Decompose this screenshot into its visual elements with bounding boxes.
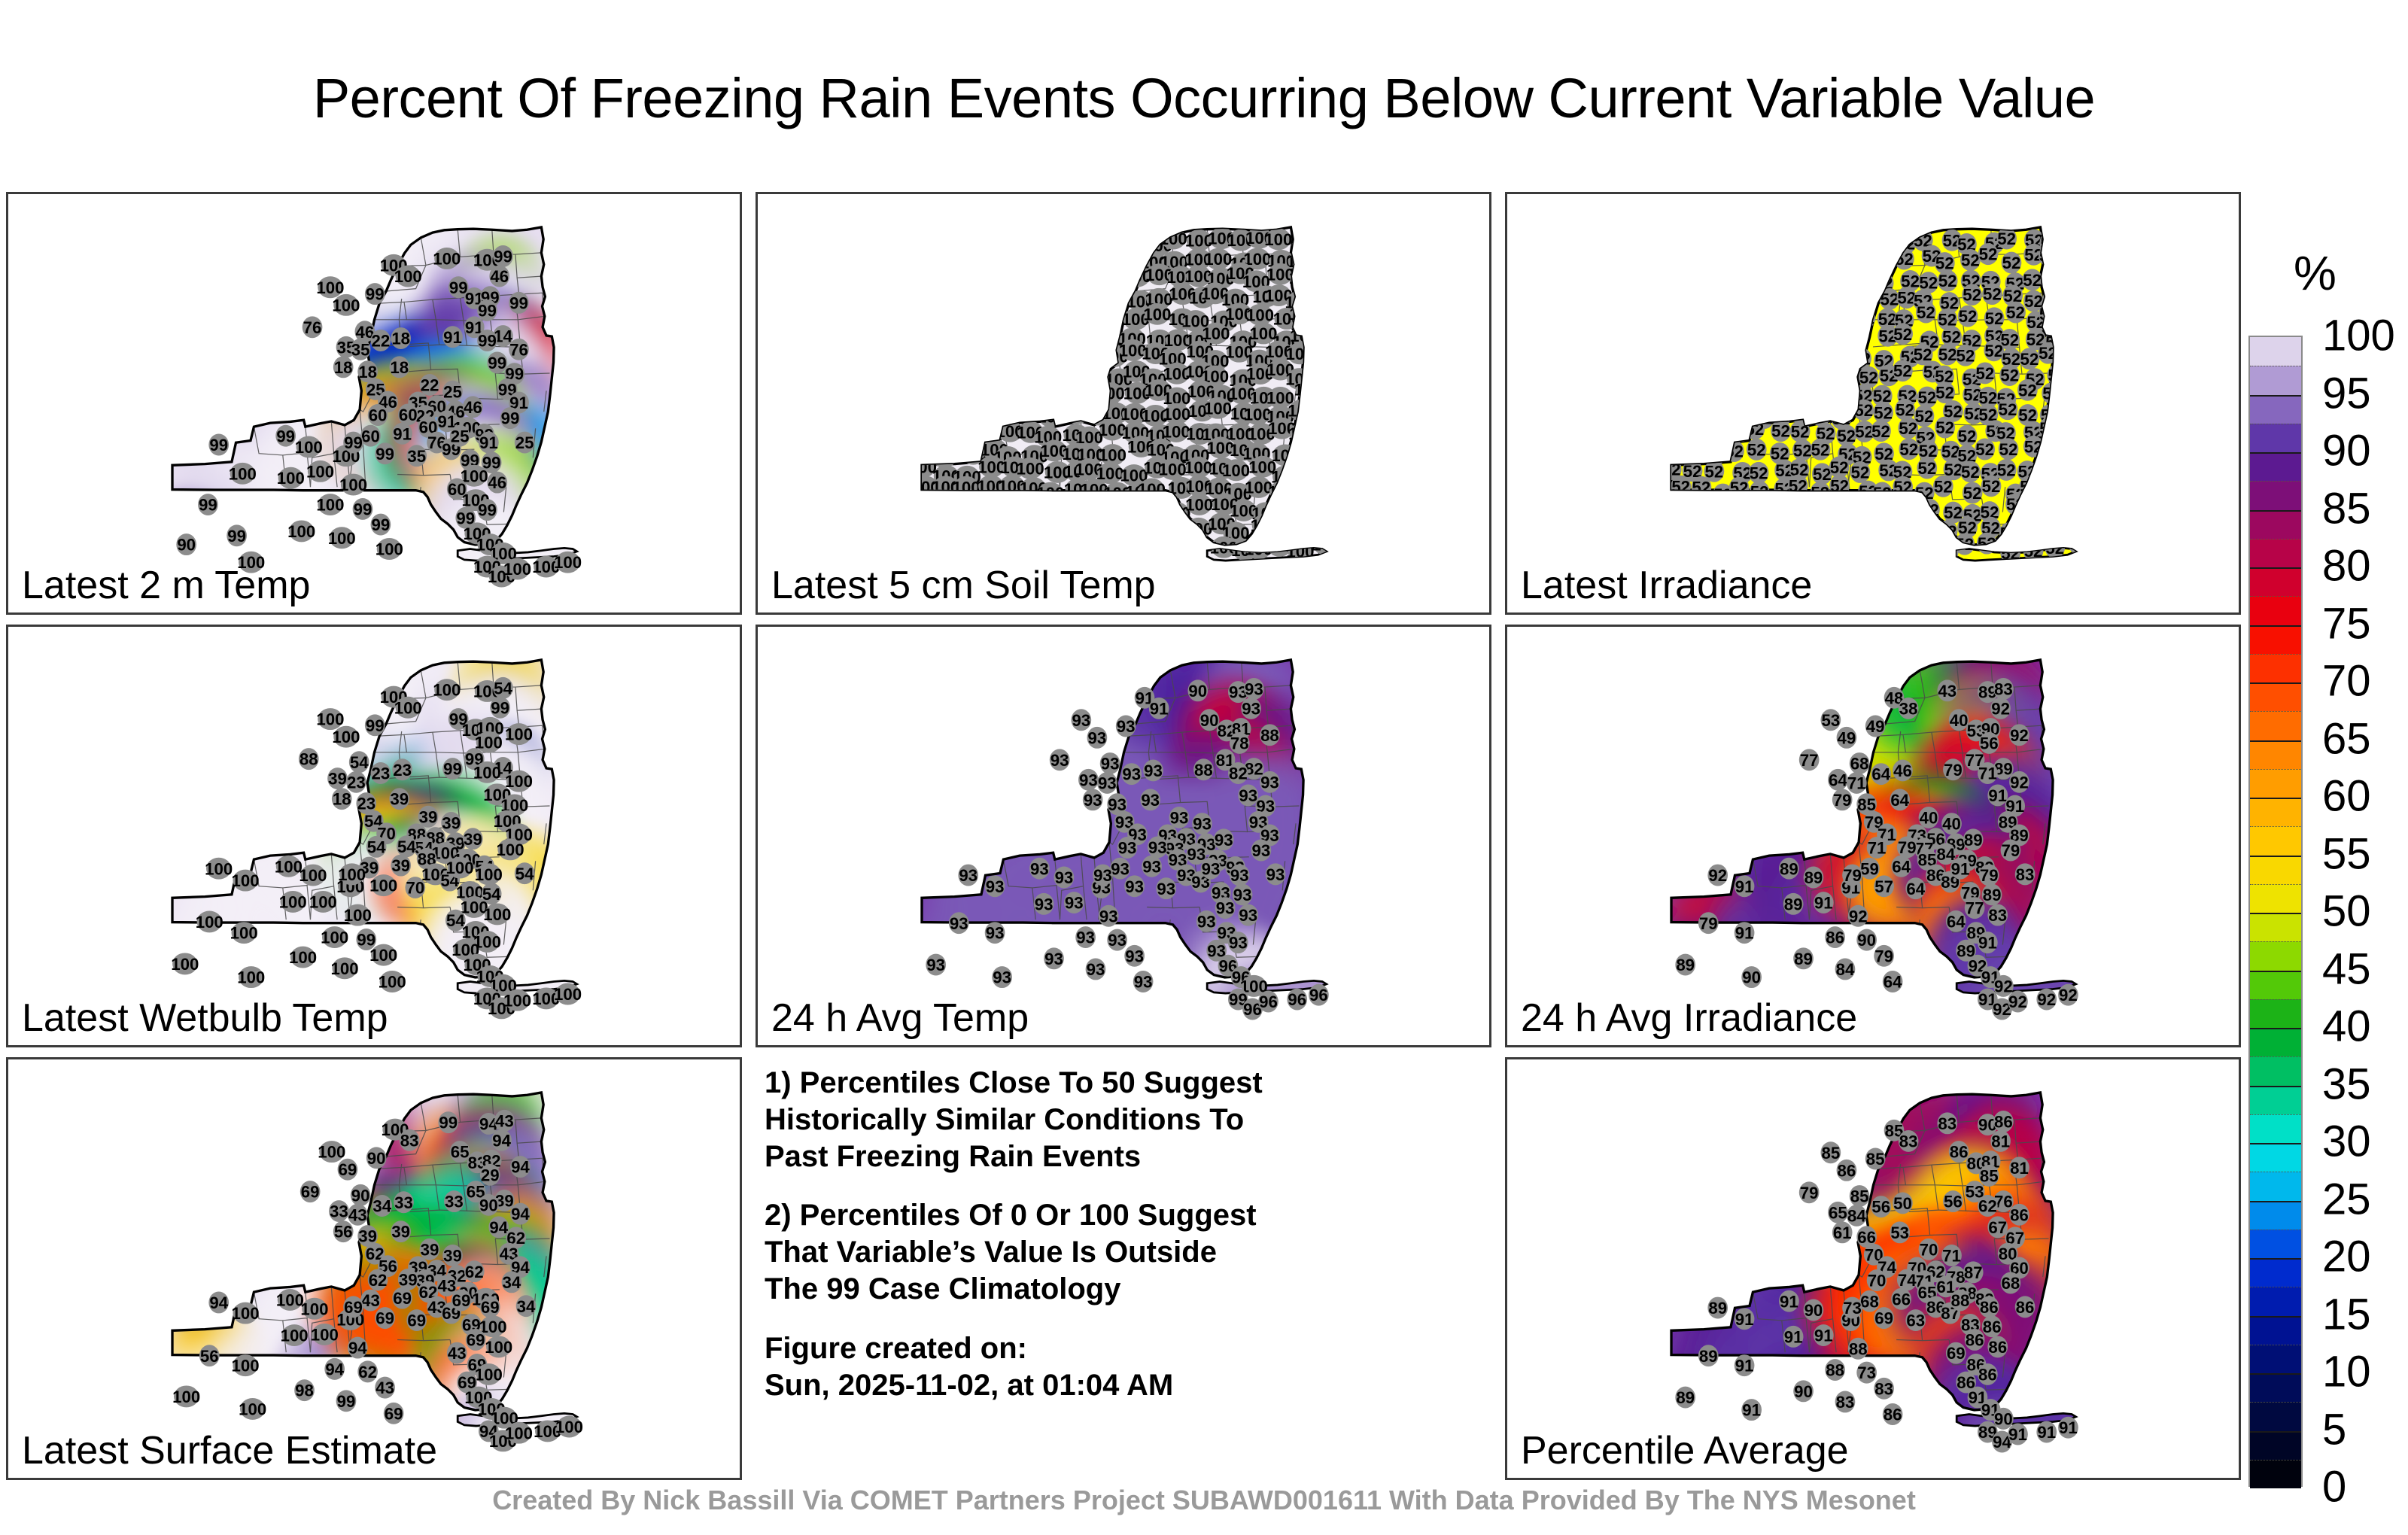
station-marker: 52 [1707,504,1727,526]
map-panel-latest-surface-estimate[interactable]: 9410056100100100100100100100949810094629… [6,1057,742,1480]
station-marker: 52 [2000,543,2020,564]
station-marker: 93 [1241,698,1261,719]
svg-text:100: 100 [1057,328,1084,347]
map-panel-latest-wetbulb-temp[interactable]: 1001001001001001001001001001001001001001… [6,625,742,1047]
svg-text:60: 60 [369,406,388,425]
station-marker: 100 [1143,303,1171,325]
svg-text:100: 100 [1034,265,1062,284]
station-marker: 93 [1238,785,1258,807]
svg-text:52: 52 [2061,460,2080,479]
station-marker: 100 [1163,543,1191,564]
station-marker: 52 [1749,231,1769,253]
svg-text:52: 52 [1896,400,1914,419]
svg-text:93: 93 [1093,866,1112,885]
svg-text:93: 93 [1099,907,1118,926]
svg-text:56: 56 [334,1223,353,1242]
svg-text:100: 100 [917,245,945,264]
station-marker: 52 [1933,476,1953,497]
station-marker: 52 [1920,499,1940,521]
station-marker: 83 [1987,904,2008,926]
svg-text:52: 52 [1732,523,1751,542]
station-marker: 91 [1814,1324,1834,1346]
station-marker: 92 [2058,984,2078,1006]
station-marker: 52 [1829,475,1850,497]
station-marker: 91 [1779,1290,1799,1312]
svg-text:93: 93 [1044,950,1063,968]
station-marker: 100 [908,399,936,421]
svg-text:100: 100 [992,345,1020,363]
map-svg-latest-wetbulb-temp: 1001001001001001001001001001001001001001… [8,627,740,1045]
svg-text:100: 100 [980,344,1008,363]
svg-text:92: 92 [1708,866,1727,885]
station-marker: 54 [493,677,513,699]
station-marker: 100 [1036,233,1064,254]
svg-text:52: 52 [2065,402,2084,421]
svg-text:89: 89 [1699,1347,1718,1366]
svg-text:100: 100 [554,553,582,572]
station-marker: 52 [1836,503,1856,525]
svg-text:93: 93 [1108,931,1126,950]
svg-text:93: 93 [1245,680,1263,699]
svg-text:100: 100 [1021,290,1049,309]
station-marker: 100 [1097,382,1125,404]
svg-text:52: 52 [1708,408,1727,427]
colorbar-band [2250,1056,2301,1085]
map-panel-latest-irradiance[interactable]: 5252525252525252525252525252525252525252… [1505,192,2241,615]
colorbar-band [2250,424,2301,452]
station-marker: 52 [1747,380,1767,402]
station-marker: 93 [1244,678,1264,700]
svg-text:86: 86 [1838,1161,1856,1180]
station-marker: 81 [1990,1130,2011,1152]
station-marker: 46 [489,266,509,287]
svg-text:91: 91 [1735,1310,1754,1329]
svg-text:89: 89 [1983,886,2002,904]
svg-text:22: 22 [421,375,439,394]
svg-text:91: 91 [1784,1327,1803,1346]
svg-text:40: 40 [1950,711,1969,730]
station-marker: 83 [1937,1112,1957,1134]
station-marker: 52 [1829,305,1849,327]
svg-text:100: 100 [953,478,981,497]
station-marker: 100 [433,679,461,701]
svg-text:93: 93 [1084,791,1102,810]
svg-text:91: 91 [1814,1327,1833,1345]
station-marker: 52 [1850,461,1871,483]
svg-text:100: 100 [914,236,942,254]
svg-text:25: 25 [451,427,470,445]
svg-text:93: 93 [1117,717,1136,736]
station-marker: 79 [1698,912,1719,934]
svg-text:77: 77 [1966,899,1984,918]
station-marker: 100 [996,245,1024,266]
station-marker: 100 [1126,534,1154,556]
svg-text:100: 100 [1308,443,1336,462]
svg-text:83: 83 [1938,1114,1956,1133]
station-marker: 100 [1160,228,1187,250]
svg-text:100: 100 [999,274,1027,293]
note-2-line-3: The 99 Case Climatology [765,1271,1482,1308]
svg-text:100: 100 [232,1304,260,1323]
svg-text:100: 100 [1076,327,1104,345]
svg-text:93: 93 [926,956,945,974]
station-marker: 93 [1093,865,1113,886]
station-marker: 52 [2059,523,2079,545]
svg-text:100: 100 [1035,521,1063,540]
svg-text:100: 100 [237,968,265,987]
station-marker: 64 [1890,789,1910,810]
station-marker: 52 [1753,302,1774,324]
colorbar-band [2250,654,2301,682]
svg-text:18: 18 [391,330,410,348]
station-marker: 52 [1873,402,1893,424]
svg-text:52: 52 [1668,541,1686,560]
svg-text:100: 100 [1042,331,1070,350]
svg-text:90: 90 [367,1149,386,1168]
colorbar-band [2250,625,2301,654]
svg-text:99: 99 [209,436,228,454]
svg-text:79: 79 [1898,838,1917,857]
station-marker: 52 [1998,398,2018,420]
svg-text:94: 94 [492,1131,511,1150]
station-marker: 91 [1741,1399,1762,1421]
svg-text:52: 52 [1771,333,1789,351]
svg-text:100: 100 [331,959,359,978]
station-marker: 94 [510,1156,531,1178]
station-marker: 52 [1683,497,1704,518]
svg-text:52: 52 [1835,539,1853,558]
station-marker: 52 [1854,289,1874,311]
svg-text:52: 52 [2039,498,2057,517]
colorbar-band [2250,1402,2301,1430]
station-marker: 52 [2061,424,2081,445]
colorbar-band [2250,941,2301,970]
svg-text:100: 100 [1143,497,1171,516]
svg-text:100: 100 [972,420,1000,439]
svg-text:93: 93 [1072,711,1090,730]
svg-text:93: 93 [1055,868,1074,887]
svg-text:46: 46 [490,267,509,286]
station-marker: 93 [1133,971,1154,992]
svg-text:100: 100 [978,523,1006,542]
svg-text:52: 52 [1665,265,1684,284]
svg-text:52: 52 [1872,255,1891,274]
station-marker: 100 [394,266,422,287]
svg-text:57: 57 [1874,877,1893,896]
map-panel-percentile-average[interactable]: 8991899189919190919188909088738383867965… [1505,1057,2241,1480]
svg-text:100: 100 [1017,459,1044,478]
station-marker: 52 [1692,476,1712,498]
svg-text:91: 91 [1814,894,1833,913]
station-marker: 52 [1814,229,1835,251]
station-marker: 100 [953,226,981,248]
station-marker: 67 [1987,1216,2008,1238]
svg-text:100: 100 [1124,229,1152,248]
svg-text:52: 52 [1851,322,1870,341]
station-marker: 100 [1057,327,1084,348]
station-marker: 100 [237,966,265,988]
svg-text:90: 90 [1200,711,1219,730]
svg-text:100: 100 [1309,311,1337,330]
station-marker: 81 [2009,1157,2029,1178]
svg-text:100: 100 [950,309,977,328]
station-marker: 82 [1228,762,1248,784]
station-marker: 100 [1251,514,1278,536]
svg-text:34: 34 [517,1297,536,1316]
svg-text:69: 69 [1947,1344,1966,1363]
svg-text:46: 46 [464,398,482,417]
svg-text:100: 100 [1016,400,1044,418]
map-panel-24h-avg-irradiance[interactable]: 9291799189908989899186899192908479647764… [1505,625,2241,1047]
station-marker: 93 [1050,749,1070,771]
svg-text:100: 100 [232,871,260,890]
svg-text:52: 52 [1935,418,1954,437]
station-marker: 89 [1982,883,2002,905]
svg-text:52: 52 [1772,351,1791,370]
svg-text:91: 91 [1735,877,1754,896]
svg-text:52: 52 [1704,543,1722,562]
station-marker: 100 [1313,496,1341,518]
station-marker: 100 [999,521,1027,543]
station-marker: 89 [1698,1345,1719,1366]
station-marker: 100 [1266,503,1294,524]
station-marker: 100 [954,253,982,275]
svg-text:52: 52 [1747,381,1766,400]
svg-text:100: 100 [973,403,1001,422]
station-marker: 93 [1251,840,1272,862]
svg-text:86: 86 [1826,929,1844,947]
svg-text:52: 52 [1684,367,1703,386]
station-marker: 52 [1895,399,1915,421]
svg-text:100: 100 [172,1388,200,1406]
station-marker: 52 [2041,518,2061,540]
station-marker: 100 [287,520,315,542]
svg-text:92: 92 [2008,992,2027,1011]
station-marker: 100 [277,467,305,489]
station-marker: 52 [1771,366,1792,388]
svg-text:99: 99 [478,501,497,520]
map-panel-latest-2m-temp[interactable]: 9910099999010099100100100100100100100991… [6,192,742,615]
panel-label-24h-avg-temp: 24 h Avg Temp [771,995,1029,1041]
station-marker: 52 [1938,541,1959,563]
station-marker: 93 [1054,867,1075,889]
station-marker: 100 [999,224,1026,246]
station-marker: 99 [509,292,529,314]
svg-text:81: 81 [1991,1132,2010,1150]
station-marker: 100 [1144,543,1172,564]
svg-text:100: 100 [952,525,980,544]
svg-text:52: 52 [1999,440,2018,459]
station-marker: 52 [1796,327,1817,349]
svg-text:52: 52 [2027,515,2046,534]
station-marker: 100 [958,289,986,311]
svg-text:100: 100 [908,401,936,420]
svg-text:52: 52 [1830,458,1849,477]
station-marker: 100 [1311,269,1339,290]
svg-text:100: 100 [1315,365,1343,384]
station-marker: 52 [1788,475,1808,497]
station-marker: 100 [953,476,981,498]
colorbar-tick: 15 [2322,1289,2371,1339]
station-marker: 93 [1140,789,1160,810]
svg-text:52: 52 [1705,524,1724,543]
svg-text:62: 62 [369,1271,388,1290]
colorbar-tick: 65 [2322,713,2371,764]
station-marker: 100 [338,863,366,885]
station-marker: 100 [917,243,945,265]
svg-text:100: 100 [1159,460,1187,479]
svg-text:87: 87 [1964,1263,1983,1282]
svg-text:100: 100 [287,522,315,541]
svg-text:61: 61 [1833,1223,1852,1242]
colorbar-band [2250,1258,2301,1287]
colorbar-band [2250,711,2301,740]
svg-text:22: 22 [372,332,391,351]
svg-text:100: 100 [1016,505,1044,524]
colorbar[interactable] [2248,336,2303,1487]
note-2-line-2: That Variable’s Value Is Outside [765,1234,1482,1271]
svg-text:99: 99 [372,515,391,534]
svg-text:91: 91 [1742,1401,1761,1420]
station-marker: 100 [1017,301,1044,323]
station-marker: 100 [953,344,981,366]
station-marker: 66 [1891,1288,1911,1310]
station-marker: 93 [1107,929,1127,951]
svg-text:52: 52 [2006,303,2025,322]
station-marker: 100 [1290,324,1318,346]
svg-text:52: 52 [2020,350,2039,369]
svg-text:52: 52 [2020,477,2039,496]
panel-label-latest-surface-estimate: Latest Surface Estimate [22,1428,437,1473]
station-marker: 52 [1770,521,1790,543]
svg-text:52: 52 [1839,266,1858,284]
station-marker: 100 [972,233,1000,255]
svg-text:100: 100 [289,948,317,967]
station-marker: 52 [1665,424,1686,445]
station-marker: 70 [1867,1269,1887,1291]
svg-text:52: 52 [1961,463,1980,482]
svg-text:100: 100 [1084,539,1112,558]
svg-text:88: 88 [1194,761,1213,780]
svg-text:100: 100 [909,533,937,552]
station-marker: 100 [1014,253,1042,275]
svg-text:52: 52 [1958,427,1977,445]
svg-text:100: 100 [196,913,223,932]
svg-text:52: 52 [1984,342,2003,360]
station-marker: 52 [1725,272,1745,293]
svg-text:100: 100 [1305,382,1333,401]
station-marker: 52 [1713,301,1734,323]
svg-text:52: 52 [1975,440,1994,459]
svg-text:93: 93 [986,924,1005,943]
station-marker: 100 [446,857,474,879]
svg-text:18: 18 [390,358,409,377]
station-marker: 100 [1018,388,1046,409]
station-marker: 52 [1838,264,1859,286]
station-marker: 52 [1665,304,1686,326]
map-panel-24h-avg-temp[interactable]: 9393939393939393939393939393939393939393… [756,625,1491,1047]
station-marker: 93 [1110,858,1130,880]
svg-text:52: 52 [1837,506,1856,524]
station-marker: 52 [1708,250,1728,272]
station-marker: 100 [959,495,987,517]
svg-text:100: 100 [912,266,940,285]
svg-text:100: 100 [1061,247,1089,266]
svg-text:52: 52 [1816,246,1835,265]
svg-text:100: 100 [978,312,1006,330]
svg-text:56: 56 [1980,734,1999,752]
station-marker: 52 [1817,535,1837,557]
svg-text:100: 100 [1204,399,1232,418]
station-marker: 49 [1865,716,1886,737]
svg-text:100: 100 [1181,534,1209,553]
station-marker: 52 [1732,321,1752,342]
svg-text:100: 100 [932,249,960,268]
svg-text:86: 86 [1980,1298,1999,1317]
station-marker: 68 [2001,1272,2021,1294]
svg-text:100: 100 [1315,485,1343,504]
svg-text:52: 52 [2045,441,2064,460]
svg-text:100: 100 [311,1325,339,1344]
station-marker: 100 [1286,477,1314,499]
station-marker: 52 [1710,289,1731,311]
station-marker: 89 [1675,1387,1695,1409]
station-marker: 88 [1193,758,1214,780]
station-markers: 5252525252525252525252525252525252525252… [1662,225,2089,564]
svg-text:52: 52 [1899,419,1917,438]
station-marker: 100 [1076,324,1104,346]
station-marker: 52 [1747,244,1768,266]
svg-text:52: 52 [1710,425,1728,444]
svg-text:52: 52 [1829,306,1848,325]
svg-text:73: 73 [1843,1299,1862,1318]
svg-text:100: 100 [1105,246,1133,265]
svg-text:52: 52 [1774,307,1792,326]
svg-text:52: 52 [1748,246,1767,265]
svg-text:52: 52 [2067,233,2086,252]
svg-text:93: 93 [1144,761,1163,780]
station-marker: 52 [1850,533,1870,555]
svg-text:52: 52 [2060,525,2078,544]
station-marker: 100 [1138,478,1166,500]
station-marker: 96 [1287,989,1307,1011]
svg-text:100: 100 [1314,293,1342,312]
map-panel-latest-5cm-soil-temp[interactable]: 1001001001001001001001001001001001001001… [756,192,1491,615]
station-marker: 100 [318,1141,345,1163]
svg-text:69: 69 [407,1312,426,1330]
svg-text:52: 52 [2000,524,2019,543]
svg-text:100: 100 [1138,480,1166,499]
svg-text:52: 52 [1832,343,1850,362]
svg-text:52: 52 [1850,266,1869,285]
station-marker: 100 [332,294,360,316]
station-marker: 52 [1834,537,1854,559]
station-marker: 83 [1899,1130,1919,1152]
station-marker: 91 [1978,932,1998,953]
svg-text:93: 93 [993,968,1011,987]
station-marker: 90 [176,533,196,555]
svg-text:52: 52 [1859,368,1878,387]
station-marker: 52 [1790,359,1811,381]
svg-text:52: 52 [1811,440,1830,459]
colorbar-band [2250,971,2301,999]
station-marker: 100 [229,463,257,485]
svg-text:52: 52 [1832,287,1850,305]
colorbar-band [2250,1201,2301,1230]
svg-text:100: 100 [997,391,1025,409]
station-marker: 96 [1309,984,1329,1006]
station-marker: 52 [2022,269,2042,290]
